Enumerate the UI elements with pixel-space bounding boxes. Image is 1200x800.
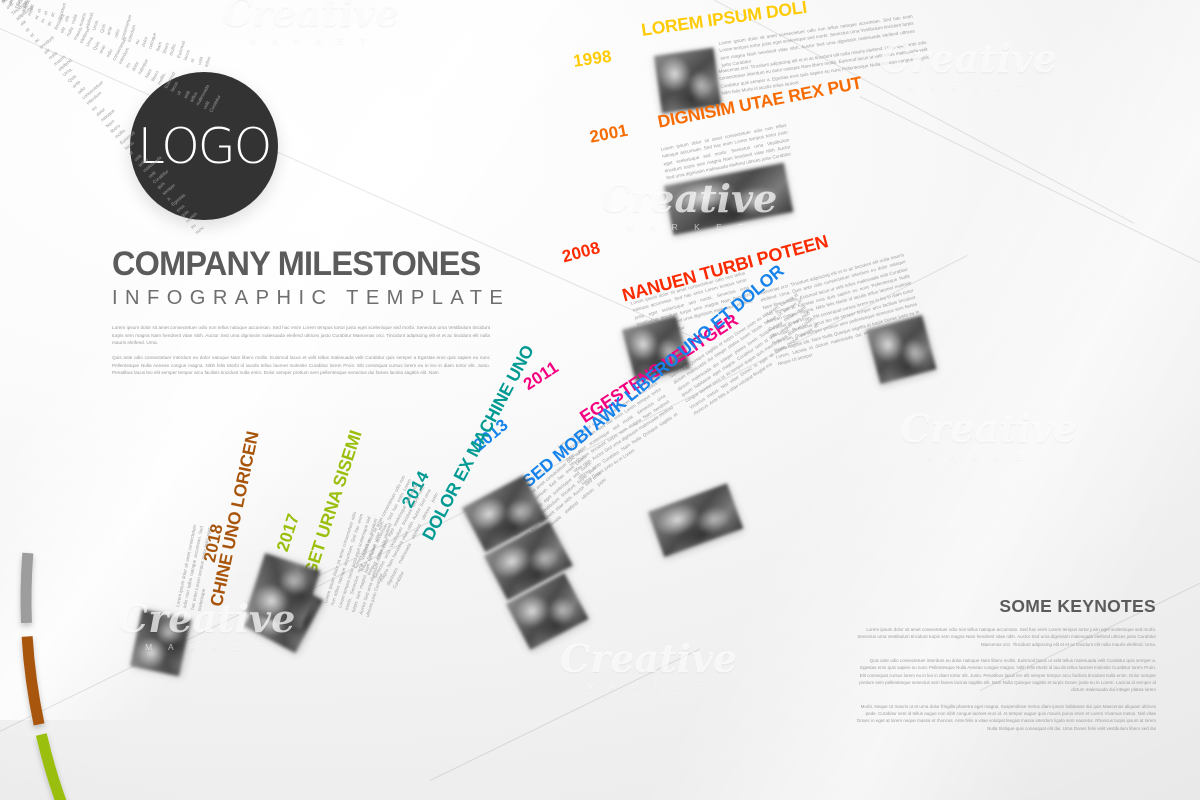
infographic-canvas: LOGO COMPANY MILESTONES INFOGRAPHIC TEMP… <box>0 0 1200 800</box>
vignette <box>0 0 1200 800</box>
